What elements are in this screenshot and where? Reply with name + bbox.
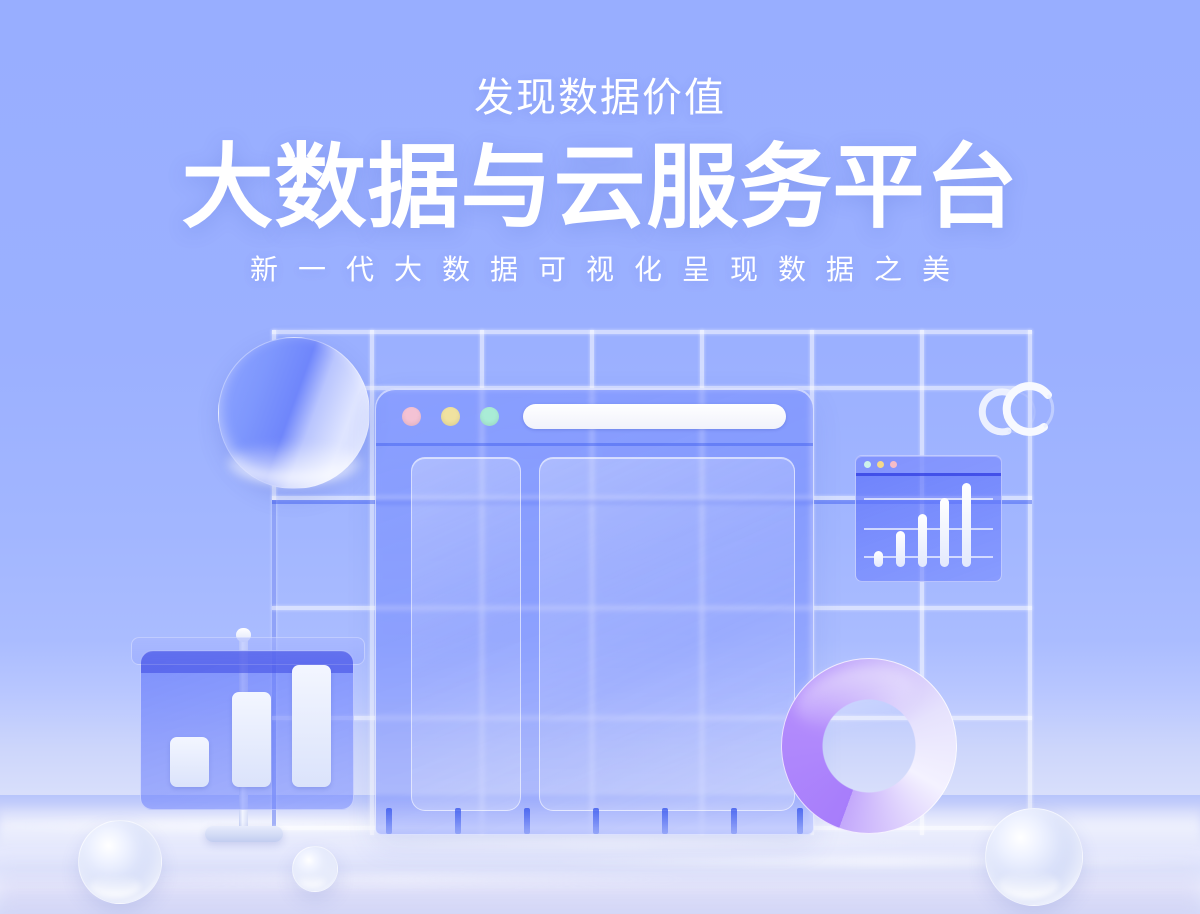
content-panel[interactable]: [539, 457, 795, 811]
close-dot[interactable]: [402, 407, 421, 426]
maximize-dot[interactable]: [480, 407, 499, 426]
hero-banner: 发现数据价值 大数据与云服务平台 新一代大数据可视化呈现数据之美: [0, 0, 1200, 914]
mini-titlebar-divider: [856, 473, 1001, 476]
floor-streak: [520, 857, 1200, 866]
window-feet: [386, 808, 803, 834]
minimize-dot[interactable]: [877, 461, 884, 468]
titlebar-divider: [376, 443, 813, 446]
glass-sphere-mid: [292, 846, 338, 892]
glass-sphere-left: [78, 820, 162, 904]
sidebar-panel[interactable]: [411, 457, 521, 811]
board-bar: [232, 692, 271, 787]
cloud-icon: [978, 365, 1066, 437]
mini-bar: [896, 531, 905, 567]
minimize-dot[interactable]: [441, 407, 460, 426]
window-titlebar: [376, 389, 813, 443]
page-title: 大数据与云服务平台: [0, 142, 1200, 234]
address-bar[interactable]: [523, 404, 786, 429]
floor-streak: [260, 839, 960, 848]
glass-disc: [218, 337, 370, 489]
eyebrow-text: 发现数据价值: [0, 78, 1200, 118]
board-bar: [170, 737, 209, 787]
mini-bar: [918, 514, 927, 567]
mini-bar: [874, 551, 883, 567]
board-bar: [292, 665, 331, 787]
floor-streak: [80, 875, 720, 884]
mini-window-titlebar: [856, 456, 1001, 473]
mini-chart-window[interactable]: [855, 455, 1002, 582]
glass-sphere-right: [985, 808, 1083, 906]
mini-bar: [940, 498, 949, 567]
main-browser-window[interactable]: [375, 388, 814, 835]
close-dot[interactable]: [864, 461, 871, 468]
maximize-dot[interactable]: [890, 461, 897, 468]
mini-chart-plot: [864, 480, 993, 573]
bar-chart-board[interactable]: [140, 650, 354, 810]
hero-text-block: 发现数据价值 大数据与云服务平台 新一代大数据可视化呈现数据之美: [0, 78, 1200, 284]
subtitle-text: 新一代大数据可视化呈现数据之美: [0, 256, 1200, 284]
board-stand-base: [205, 826, 283, 842]
mini-bar: [962, 483, 971, 567]
